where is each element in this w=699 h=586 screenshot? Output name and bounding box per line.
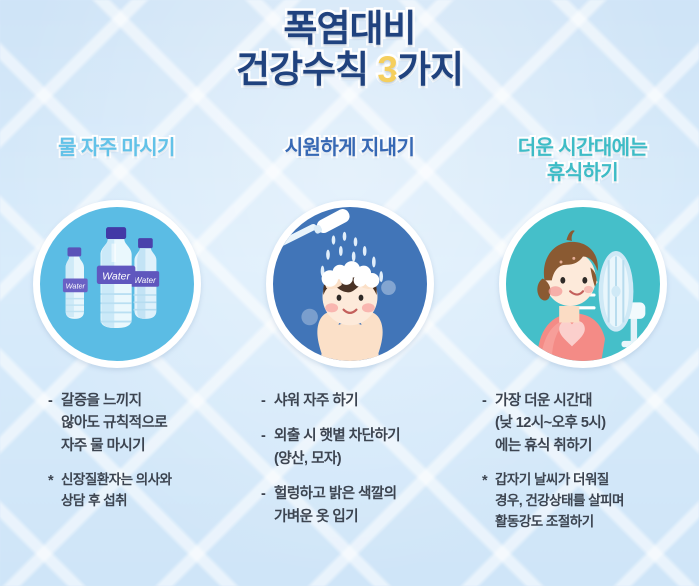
column-body-water: - 갈증을 느끼지 않아도 규칙적으로 자주 물 마시기 * 신장질환자는 의사… <box>0 390 233 512</box>
bullet-text: 샤워 자주 하기 <box>274 390 358 412</box>
title-count-number: 3 <box>377 49 397 90</box>
bullet-mark: - <box>48 390 61 457</box>
column-body-rest: - 가장 더운 시간대 (낮 12시~오후 5시) 에는 휴식 취하기 * 갑자… <box>466 390 699 533</box>
column-heading-water: 물 자주 마시기 <box>0 136 233 198</box>
list-item: - 가장 더운 시간대 (낮 12시~오후 5시) 에는 휴식 취하기 <box>482 390 699 457</box>
column-heading-shower: 시원하게 지내기 <box>233 136 466 198</box>
list-item: - 갈증을 느끼지 않아도 규칙적으로 자주 물 마시기 <box>48 390 233 457</box>
title-line-2-pre: 건강수칙 <box>236 49 377 90</box>
bullet-mark: * <box>48 470 61 512</box>
list-item: - 헐렁하고 밝은 색깔의 가벼운 옷 입기 <box>261 483 466 528</box>
bullet-text: 갑자기 날씨가 더워질 경우, 건강상태를 살피며 활동강도 조절하기 <box>495 470 624 533</box>
bullet-text: 가장 더운 시간대 (낮 12시~오후 5시) 에는 휴식 취하기 <box>495 390 606 457</box>
tips-columns: 물 자주 마시기 Water <box>0 136 699 586</box>
tip-column-water: 물 자주 마시기 Water <box>0 136 233 586</box>
column-body-shower: - 샤워 자주 하기 - 외출 시 햇볕 차단하기 (양산, 모자) - 헐렁하… <box>233 390 466 528</box>
title-line-1: 폭염대비 <box>0 8 699 49</box>
bullet-mark: - <box>261 390 274 412</box>
bullet-mark: - <box>261 483 274 528</box>
tip-column-rest: 더운 시간대에는 휴식하기 <box>466 136 699 586</box>
title-line-2-post: 가지 <box>397 49 463 90</box>
list-item: - 샤워 자주 하기 <box>261 390 466 412</box>
tip-column-shower: 시원하게 지내기 <box>233 136 466 586</box>
bullet-mark: - <box>261 425 274 470</box>
infographic-poster: 폭염대비 건강수칙 3가지 물 자주 마시기 Water <box>0 0 699 586</box>
list-item: * 신장질환자는 의사와 상담 후 섭취 <box>48 470 233 512</box>
svg-text:Water: Water <box>65 282 85 291</box>
bullet-text: 헐렁하고 밝은 색깔의 가벼운 옷 입기 <box>274 483 397 528</box>
column-heading-rest: 더운 시간대에는 휴식하기 <box>466 136 699 198</box>
list-item: * 갑자기 날씨가 더워질 경우, 건강상태를 살피며 활동강도 조절하기 <box>482 470 699 533</box>
bullet-mark: - <box>482 390 495 457</box>
bullet-text: 외출 시 햇볕 차단하기 (양산, 모자) <box>274 425 400 470</box>
bullet-text: 갈증을 느끼지 않아도 규칙적으로 자주 물 마시기 <box>61 390 167 457</box>
poster-title: 폭염대비 건강수칙 3가지 <box>0 8 699 91</box>
title-line-2: 건강수칙 3가지 <box>0 49 699 90</box>
svg-text:Water: Water <box>134 276 157 285</box>
shower-person-illustration <box>266 200 434 368</box>
water-bottles-illustration: Water Water <box>33 200 201 368</box>
bullet-mark: * <box>482 470 495 533</box>
bullet-text: 신장질환자는 의사와 상담 후 섭취 <box>61 470 172 512</box>
svg-text:Water: Water <box>102 270 130 282</box>
girl-with-fan-illustration <box>499 200 667 368</box>
list-item: - 외출 시 햇볕 차단하기 (양산, 모자) <box>261 425 466 470</box>
